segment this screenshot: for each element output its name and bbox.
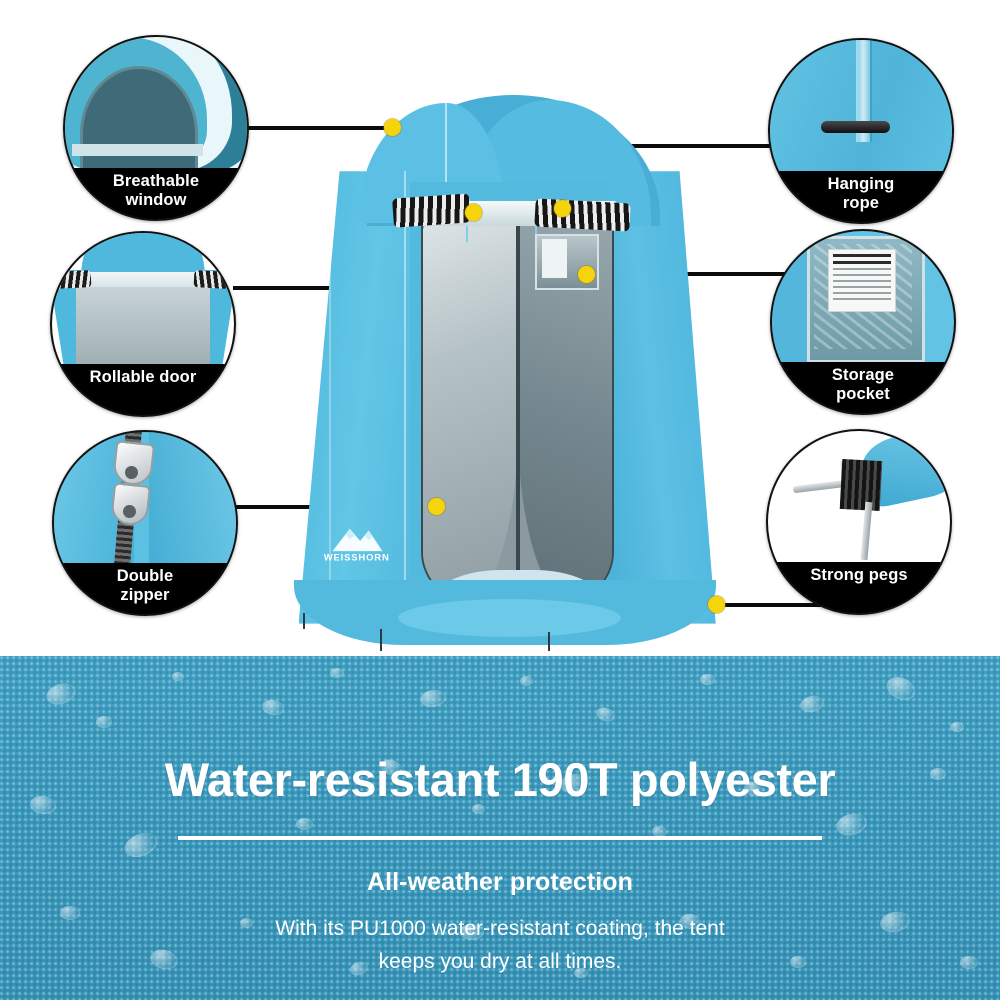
callout-photo-double-zipper — [54, 432, 236, 563]
callout-caption-strong-pegs: Strong pegs — [768, 562, 950, 613]
callout-strong-pegs[interactable]: Strong pegs — [766, 429, 952, 615]
callout-photo-breathable-window — [65, 37, 247, 168]
tent-peg-front-left — [380, 629, 382, 651]
callout-label-double-zipper: Doublezipper — [117, 567, 174, 604]
callout-photo-hanging-rope — [770, 40, 952, 171]
svg-text:WEISSHORN: WEISSHORN — [324, 553, 390, 564]
tent-peg-side-left — [303, 613, 305, 629]
tent-pocket-note — [542, 239, 568, 277]
brand-logo: WEISSHORN — [324, 509, 427, 574]
callout-label-rollable-door: Rollable door — [90, 368, 197, 386]
tent-door-gap — [516, 222, 520, 604]
anchor-dot-double-zipper — [428, 498, 445, 515]
callout-caption-rollable-door: Rollable door — [52, 364, 234, 415]
anchor-dot-breathable-window — [384, 119, 401, 136]
water-resistance-banner: Water-resistant 190T polyester All-weath… — [0, 656, 1000, 1000]
callout-caption-hanging-rope: Hangingrope — [770, 171, 952, 222]
anchor-dot-rollable-door — [465, 204, 482, 221]
callout-breathable-window[interactable]: Breathablewindow — [63, 35, 249, 221]
tent-door-flap-left — [421, 220, 518, 606]
banner-divider — [178, 836, 822, 840]
anchor-dot-hanging-rope — [554, 200, 571, 217]
banner-subheadline: All-weather protection — [367, 868, 633, 897]
callout-rollable-door[interactable]: Rollable door — [50, 231, 236, 417]
tent-strap-right — [534, 199, 630, 232]
callout-caption-storage-pocket: Storagepocket — [772, 362, 954, 413]
feature-callout-area: WEISSHORN Breathablewindow — [0, 0, 1000, 656]
callout-label-storage-pocket: Storagepocket — [832, 366, 894, 403]
callout-label-strong-pegs: Strong pegs — [810, 566, 907, 584]
callout-caption-breathable-window: Breathablewindow — [65, 168, 247, 219]
tent-peg-front-right — [548, 632, 550, 651]
callout-caption-double-zipper: Doublezipper — [54, 563, 236, 614]
banner-headline: Water-resistant 190T polyester — [165, 756, 836, 803]
callout-storage-pocket[interactable]: Storagepocket — [770, 229, 956, 415]
callout-label-hanging-rope: Hangingrope — [828, 175, 895, 212]
callout-label-breathable-window: Breathablewindow — [113, 172, 199, 209]
banner-body-line-2: keeps you dry at all times. — [379, 950, 622, 973]
product-infographic: WEISSHORN Breathablewindow — [0, 0, 1000, 1000]
callout-hanging-rope[interactable]: Hangingrope — [768, 38, 954, 224]
callout-photo-rollable-door — [52, 233, 234, 364]
anchor-dot-storage-pocket — [578, 266, 595, 283]
callout-photo-strong-pegs — [768, 431, 950, 562]
tent-strap-left — [392, 193, 471, 228]
product-image-tent: WEISSHORN — [290, 95, 720, 640]
banner-body: With its PU1000 water-resistant coating,… — [275, 913, 724, 978]
callout-double-zipper[interactable]: Doublezipper — [52, 430, 238, 616]
tent-base-front — [398, 599, 622, 637]
callout-photo-storage-pocket — [772, 231, 954, 362]
banner-content: Water-resistant 190T polyester All-weath… — [0, 656, 1000, 1000]
banner-body-line-1: With its PU1000 water-resistant coating,… — [275, 917, 724, 940]
anchor-dot-strong-pegs — [708, 596, 725, 613]
tent-tie-left — [466, 226, 468, 242]
